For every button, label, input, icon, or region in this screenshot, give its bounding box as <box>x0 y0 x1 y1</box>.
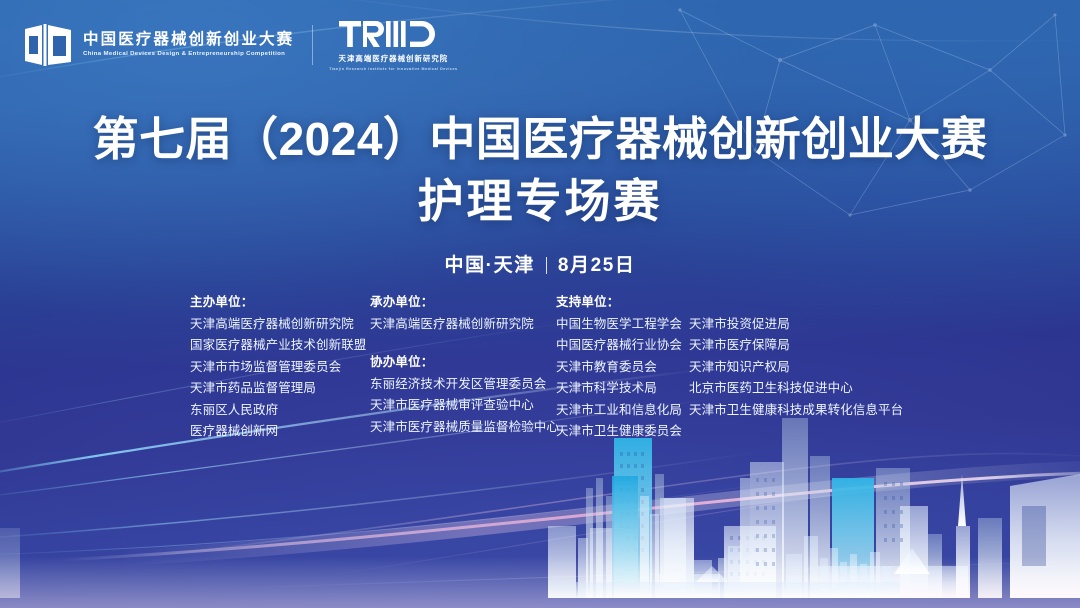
poster-canvas: 中国医疗器械创新创业大赛 China Medical Devices Desig… <box>0 0 1080 608</box>
organizer-item: 天津市医疗器械质量监督检验中心 <box>370 417 556 439</box>
organizer-item: 天津市投资促进局 <box>689 314 903 336</box>
organizer-group: 天津市投资促进局 天津市医疗保障局 天津市知识产权局 北京市医药卫生科技促进中心… <box>689 292 903 421</box>
subtitle-divider <box>546 257 547 274</box>
poster-date: 8月25日 <box>558 255 636 276</box>
organizer-item: 天津市药品监督管理局 <box>190 378 370 400</box>
triid-wordmark-icon <box>339 19 447 49</box>
group-label: 承办单位： <box>370 292 556 314</box>
organizer-item: 天津市科学技术局 <box>556 378 689 400</box>
organizers-column-2: 承办单位： 天津高端医疗器械创新研究院 协办单位： 东丽经济技术开发区管理委员会… <box>370 292 556 438</box>
poster-title-line1: 第七届（2024）中国医疗器械创新创业大赛 <box>0 112 1080 166</box>
open-book-door-logo-icon <box>22 22 74 68</box>
organizer-item: 天津市知识产权局 <box>689 357 903 379</box>
organizer-item: 天津市工业和信息化局 <box>556 400 689 422</box>
partner-logo: 天津高端医疗器械创新研究院 Tianjin Research Institute… <box>329 19 457 71</box>
organizer-item: 天津高端医疗器械创新研究院 <box>370 314 556 336</box>
organizers-column-4: 天津市投资促进局 天津市医疗保障局 天津市知识产权局 北京市医药卫生科技促进中心… <box>689 292 903 421</box>
organizer-item: 中国生物医学工程学会 <box>556 314 689 336</box>
poster-title-block: 第七届（2024）中国医疗器械创新创业大赛 护理专场赛 中国·天津8月25日 <box>0 112 1080 277</box>
group-label: 协办单位： <box>370 352 556 374</box>
organizer-item: 天津市市场监督管理委员会 <box>190 357 370 379</box>
organizer-item: 天津高端医疗器械创新研究院 <box>190 314 370 336</box>
organizer-group: 主办单位： 天津高端医疗器械创新研究院 国家医疗器械产业技术创新联盟 天津市市场… <box>190 292 370 443</box>
organizer-item: 医疗器械创新网 <box>190 421 370 443</box>
organizer-item: 天津市卫生健康委员会 <box>556 421 689 443</box>
organizer-item: 天津市医疗器械审评查验中心 <box>370 395 556 417</box>
organizers-block: 主办单位： 天津高端医疗器械创新研究院 国家医疗器械产业技术创新联盟 天津市市场… <box>190 292 950 443</box>
group-label: 主办单位： <box>190 292 370 314</box>
organizer-group: 协办单位： 东丽经济技术开发区管理委员会 天津市医疗器械审评查验中心 天津市医疗… <box>370 352 556 438</box>
poster-subtitle: 中国·天津8月25日 <box>0 250 1080 277</box>
organizer-item: 国家医疗器械产业技术创新联盟 <box>190 335 370 357</box>
organizer-group: 承办单位： 天津高端医疗器械创新研究院 <box>370 292 556 335</box>
main-logo-title-en: China Medical Devices Design & Entrepren… <box>83 51 301 58</box>
organizer-item: 天津市医疗保障局 <box>689 335 903 357</box>
organizers-column-3: 支持单位： 中国生物医学工程学会 中国医疗器械行业协会 天津市教育委员会 天津市… <box>556 292 689 443</box>
logo-divider <box>312 25 313 65</box>
header-logo-bar: 中国医疗器械创新创业大赛 China Medical Devices Desig… <box>22 19 458 71</box>
group-label: 支持单位： <box>556 292 689 314</box>
organizer-item: 中国医疗器械行业协会 <box>556 335 689 357</box>
poster-location: 中国·天津 <box>444 255 534 276</box>
organizer-item: 天津市卫生健康科技成果转化信息平台 <box>689 400 903 422</box>
column4-top-spacer <box>689 292 903 314</box>
main-logo-title-cn: 中国医疗器械创新创业大赛 <box>83 31 294 48</box>
partner-logo-title-cn: 天津高端医疗器械创新研究院 <box>339 53 449 64</box>
organizer-item: 东丽经济技术开发区管理委员会 <box>370 374 556 396</box>
partner-logo-title-en: Tianjin Research Institute for Innovativ… <box>329 67 457 71</box>
organizers-column-1: 主办单位： 天津高端医疗器械创新研究院 国家医疗器械产业技术创新联盟 天津市市场… <box>190 292 370 443</box>
organizer-item: 北京市医药卫生科技促进中心 <box>689 378 903 400</box>
poster-title-line2: 护理专场赛 <box>0 174 1080 228</box>
organizer-item: 天津市教育委员会 <box>556 357 689 379</box>
organizer-item: 东丽区人民政府 <box>190 400 370 422</box>
organizer-group: 支持单位： 中国生物医学工程学会 中国医疗器械行业协会 天津市教育委员会 天津市… <box>556 292 689 443</box>
